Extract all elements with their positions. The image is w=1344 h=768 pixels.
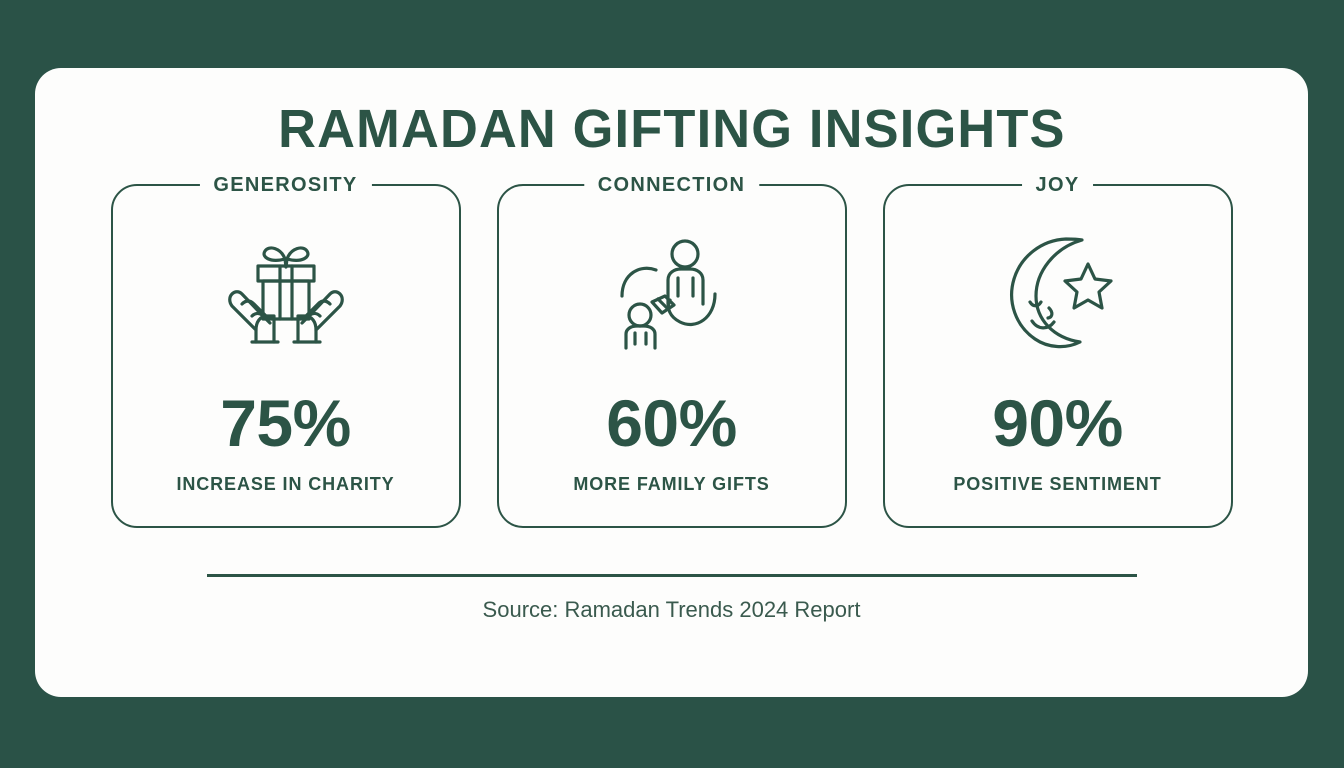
stat-card-generosity: GENEROSITY — [111, 184, 461, 528]
stat-value: 90% — [992, 390, 1123, 456]
footer: Source: Ramadan Trends 2024 Report — [207, 574, 1137, 623]
source-text: Source: Ramadan Trends 2024 Report — [483, 597, 861, 623]
stat-value: 75% — [220, 390, 351, 456]
stat-card-label: CONNECTION — [584, 174, 759, 196]
gift-in-hands-icon — [222, 224, 350, 356]
stat-card-joy: JOY 90% POSITIVE SENTIMENT — [883, 184, 1233, 528]
stat-caption: MORE FAMILY GIFTS — [573, 474, 769, 495]
page-title: RAMADAN GIFTING INSIGHTS — [278, 101, 1065, 158]
stat-card-label: JOY — [1022, 174, 1094, 196]
infographic-panel: RAMADAN GIFTING INSIGHTS GENEROSITY — [35, 68, 1308, 697]
stat-caption: INCREASE IN CHARITY — [176, 474, 394, 495]
stat-card-connection: CONNECTION — [497, 184, 847, 528]
stat-caption: POSITIVE SENTIMENT — [953, 474, 1161, 495]
crescent-moon-star-icon — [994, 224, 1122, 356]
people-exchanging-gift-icon — [608, 224, 736, 356]
stat-value: 60% — [606, 390, 737, 456]
stat-card-label: GENEROSITY — [199, 174, 371, 196]
stat-card-group: GENEROSITY — [35, 184, 1308, 528]
footer-divider — [207, 574, 1137, 577]
